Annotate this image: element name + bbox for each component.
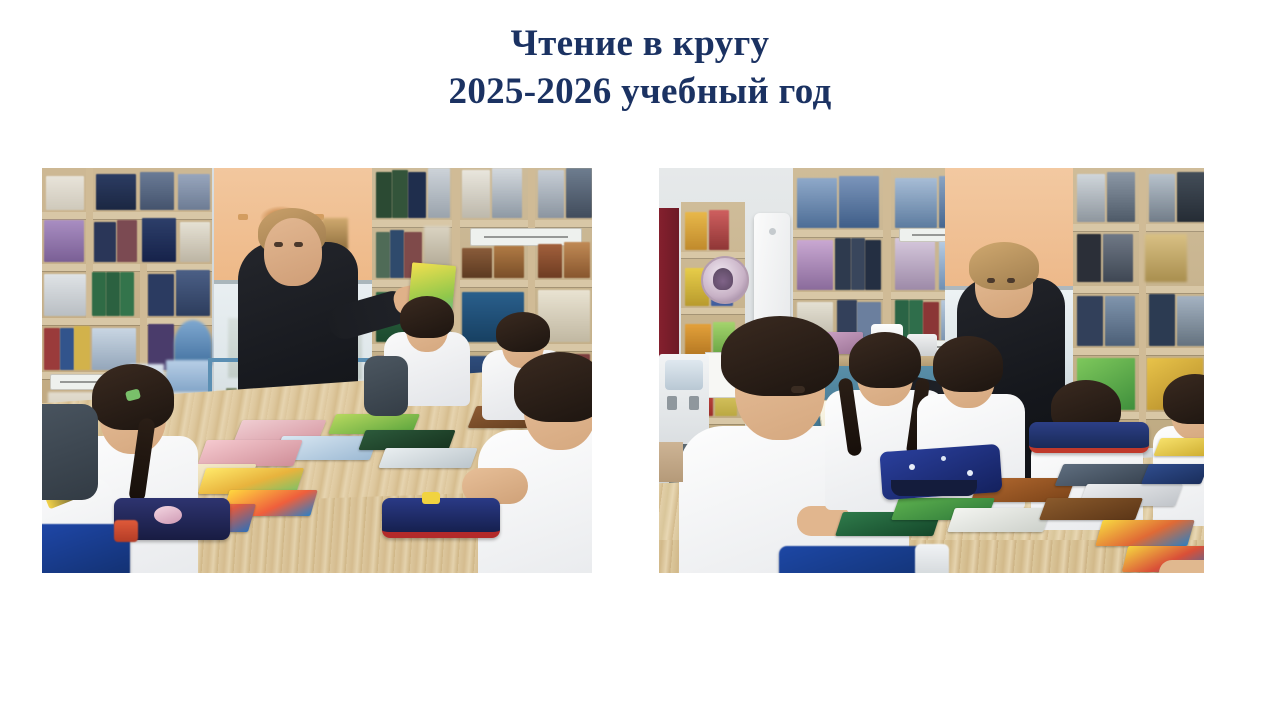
child-hair	[721, 316, 839, 396]
shelf-book	[408, 172, 426, 218]
slide-title: Чтение в кругу 2025-2026 учебный год	[0, 22, 1280, 113]
shelf-book	[1105, 296, 1135, 346]
right-photo-scene	[659, 168, 1204, 573]
child-hand	[1159, 560, 1204, 573]
shelf-book	[92, 272, 106, 316]
shelf-book	[895, 178, 937, 228]
shelf-book	[1077, 174, 1105, 222]
table-book	[1039, 498, 1143, 520]
chair-back	[364, 356, 408, 416]
shelf-item	[462, 248, 492, 278]
table-book	[358, 430, 455, 450]
chair-back	[42, 404, 98, 500]
child-hair	[849, 332, 921, 388]
shelf-book	[1149, 294, 1175, 346]
shelf-book	[142, 218, 176, 262]
shelf-book	[94, 222, 116, 262]
shelf-book	[148, 274, 174, 316]
shelf-book	[44, 220, 84, 262]
pencil-yellow	[422, 492, 440, 504]
shelf-book	[895, 238, 935, 290]
shelf-book	[797, 178, 837, 228]
shelf-book	[140, 172, 174, 210]
pencil-case-sticker	[154, 506, 182, 524]
water-bottle	[665, 360, 703, 390]
table-item	[915, 544, 949, 573]
shelf-book	[1103, 234, 1133, 282]
shelf-book	[1149, 174, 1175, 222]
shelf-book	[1077, 296, 1103, 346]
shelf-board	[681, 252, 745, 258]
shelf-book	[428, 168, 450, 218]
table-book	[1095, 520, 1194, 546]
pencil-case-base	[891, 480, 977, 496]
shelf-book	[851, 238, 865, 290]
teacher-eye	[987, 278, 995, 283]
shelf-book	[835, 238, 851, 290]
child-eye	[791, 386, 805, 393]
teacher-eye	[1007, 278, 1015, 283]
shelf-book	[462, 170, 490, 218]
shelf-book	[44, 328, 60, 370]
shelf-book	[1107, 172, 1135, 222]
shelf-book	[74, 326, 90, 370]
shelf-book	[176, 270, 210, 316]
table-book	[947, 508, 1051, 532]
table-book	[1141, 464, 1204, 484]
table-book	[378, 448, 477, 468]
shelf-book	[1177, 296, 1204, 346]
child-hair	[400, 296, 454, 338]
shelf-book	[60, 328, 74, 370]
title-line-2: 2025-2026 учебный год	[0, 70, 1280, 114]
shelf-book	[106, 272, 120, 316]
picture-frame	[1145, 234, 1187, 282]
floor	[659, 442, 683, 482]
shelf-board	[681, 308, 745, 314]
child-hair	[514, 352, 592, 422]
pencil-case-star	[967, 470, 973, 476]
shelf-book	[46, 176, 84, 210]
shelf-book	[120, 272, 134, 316]
shelf-book	[178, 174, 210, 210]
shelf-item	[538, 244, 562, 278]
title-line-1: Чтение в кругу	[0, 22, 1280, 66]
teacher-eye	[294, 242, 303, 247]
left-photo-scene	[42, 168, 592, 573]
purifier-button	[769, 228, 776, 235]
pencil-case-blue-red	[382, 498, 500, 538]
slide-canvas: Чтение в кругу 2025-2026 учебный год	[0, 0, 1280, 720]
shelf-book	[839, 176, 879, 228]
cooler-tap	[667, 396, 677, 410]
shelf-book	[96, 174, 136, 210]
shelf-board	[372, 220, 592, 227]
shelf-book	[492, 168, 522, 218]
shelf-book	[865, 240, 881, 290]
shelf-book	[390, 230, 404, 278]
pencil-case-starry	[779, 546, 929, 573]
blind-ornament	[238, 214, 248, 220]
cooler-tap	[689, 396, 699, 410]
red-curtain	[659, 208, 679, 378]
table-book	[1153, 438, 1204, 456]
plaque-motif	[713, 268, 733, 290]
pencil-case-star	[909, 464, 915, 470]
shelf-item	[494, 246, 524, 278]
photo-right-reading-circle	[659, 168, 1204, 573]
photo-left-reading-circle	[42, 168, 592, 573]
pencil-case-trim	[114, 520, 138, 542]
table-book	[197, 440, 302, 466]
shelf-book	[709, 210, 729, 250]
shelf-book	[376, 172, 392, 218]
shelf-board	[42, 212, 212, 219]
pencil-case-star	[941, 456, 946, 461]
teacher-eye	[274, 242, 283, 247]
shelf-book	[117, 220, 137, 262]
shelf-item	[564, 242, 590, 278]
shelf-book	[392, 170, 408, 218]
shelf-book	[44, 274, 86, 316]
shelf-book	[180, 222, 210, 262]
child-hair	[496, 312, 550, 352]
shelf-book	[797, 240, 833, 290]
teacher-head	[264, 218, 322, 286]
child-hair	[933, 336, 1003, 392]
teacher-hair	[969, 242, 1039, 290]
shelf-book	[1177, 172, 1204, 222]
shelf-book	[538, 170, 564, 218]
shelf-book	[376, 232, 390, 278]
pencil-case-blue-red	[1029, 422, 1149, 453]
shelf-book	[685, 212, 707, 250]
shelf-divider	[1139, 168, 1146, 448]
shelf-book	[566, 168, 592, 218]
shelf-book	[1077, 234, 1101, 282]
